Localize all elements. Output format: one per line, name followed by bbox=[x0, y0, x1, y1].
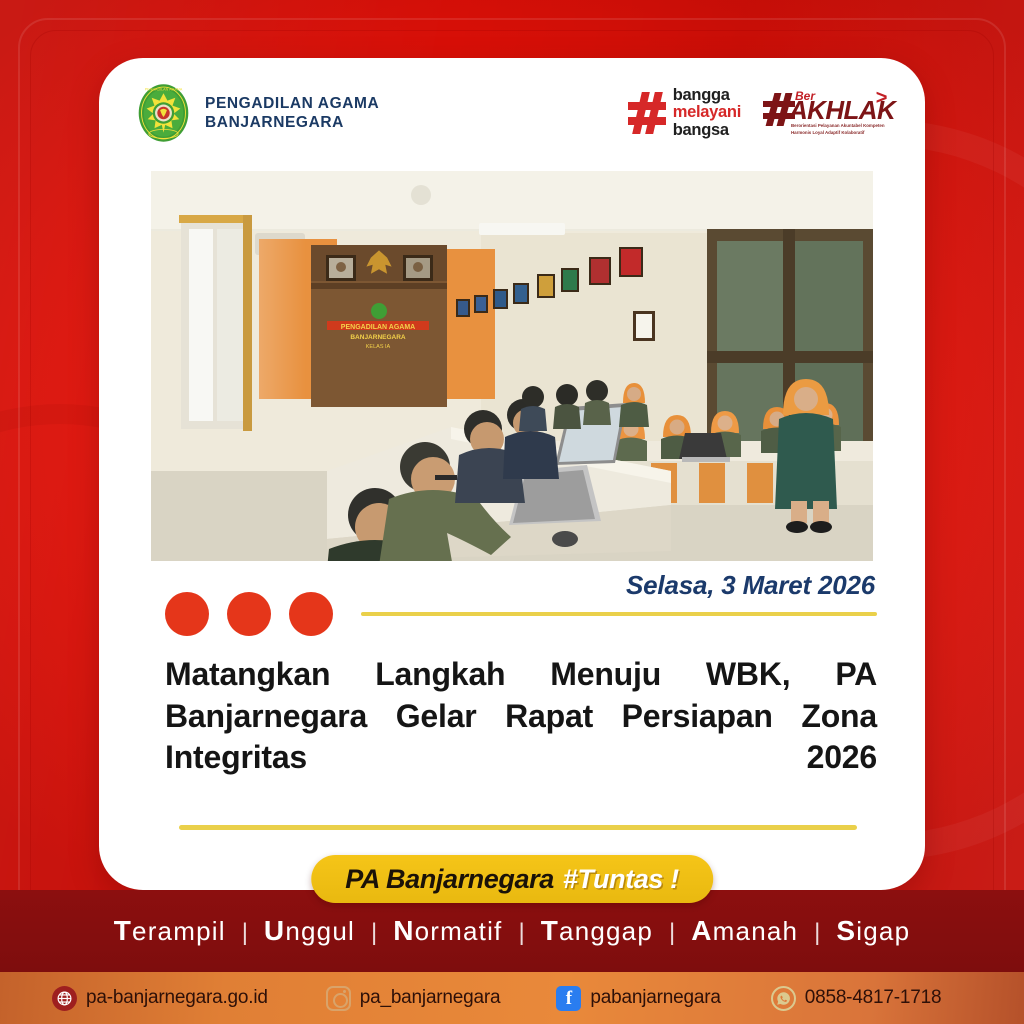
court-name-line2: BANJARNEGARA bbox=[205, 113, 379, 132]
svg-text:PENGADILAN AGAMA: PENGADILAN AGAMA bbox=[145, 87, 183, 91]
ber-akhlak-logo: Ber AKHLAK > Berorientasi Pelayanan Akun… bbox=[763, 87, 889, 139]
globe-icon bbox=[52, 986, 77, 1011]
article-date: Selasa, 3 Maret 2026 bbox=[626, 570, 875, 601]
decorative-dot bbox=[165, 592, 209, 636]
svg-text:KELAS IA: KELAS IA bbox=[366, 344, 391, 350]
whatsapp-label: 0858-4817-1718 bbox=[805, 987, 942, 1009]
svg-text:BANJARNEGARA: BANJARNEGARA bbox=[350, 334, 406, 341]
contact-footer: pa-banjarnegara.go.id pa_banjarnegara f … bbox=[0, 972, 1024, 1024]
contact-facebook[interactable]: f pabanjarnegara bbox=[556, 986, 720, 1011]
separator: | bbox=[669, 919, 675, 947]
facebook-icon: f bbox=[556, 986, 581, 1011]
facebook-label: pabanjarnegara bbox=[590, 987, 720, 1009]
bangga-melayani-bangsa-logo: bangga melayani bangsa bbox=[628, 87, 741, 138]
court-seal-icon: PENGADILAN AGAMA bbox=[135, 82, 192, 144]
value-word-normatif: Normatif bbox=[393, 915, 502, 947]
instagram-icon bbox=[326, 986, 351, 1011]
divider-row: Selasa, 3 Maret 2026 bbox=[165, 578, 877, 638]
separator: | bbox=[814, 919, 820, 947]
news-photo: PENGADILAN AGAMA BANJARNEGARA KELAS IA bbox=[151, 171, 873, 561]
whatsapp-icon bbox=[771, 986, 796, 1011]
badge-text-primary: PA Banjarnegara bbox=[345, 864, 554, 895]
contact-whatsapp[interactable]: 0858-4817-1718 bbox=[771, 986, 942, 1011]
akhlak-subtitle: Berorientasi Pelayanan Akuntabel Kompete… bbox=[791, 123, 891, 136]
tagline-badge[interactable]: PA Banjarnegara #Tuntas ! bbox=[311, 855, 713, 903]
court-name-line1: PENGADILAN AGAMA bbox=[205, 94, 379, 113]
value-word-amanah: Amanah bbox=[691, 915, 798, 947]
chevron-right-icon: > bbox=[875, 87, 887, 110]
partner-logos: bangga melayani bangsa Ber AKHLAK > Bero… bbox=[628, 87, 889, 139]
svg-text:PENGADILAN AGAMA: PENGADILAN AGAMA bbox=[341, 324, 415, 331]
value-word-terampil: Terampil bbox=[114, 915, 226, 947]
card-header: PENGADILAN AGAMA PENGADILAN AGAMA BANJAR… bbox=[99, 58, 925, 168]
bangga-line3: bangsa bbox=[673, 122, 741, 139]
content-card: PENGADILAN AGAMA PENGADILAN AGAMA BANJAR… bbox=[99, 58, 925, 890]
contact-instagram[interactable]: pa_banjarnegara bbox=[326, 986, 501, 1011]
value-word-unggul: Unggul bbox=[264, 915, 355, 947]
court-identity: PENGADILAN AGAMA PENGADILAN AGAMA BANJAR… bbox=[135, 82, 379, 144]
decorative-dot bbox=[289, 592, 333, 636]
values-tagline: Terampil | Unggul | Normatif | Tanggap |… bbox=[114, 915, 911, 947]
decorative-dot bbox=[227, 592, 271, 636]
yellow-rule-bottom bbox=[179, 825, 857, 830]
court-name: PENGADILAN AGAMA BANJARNEGARA bbox=[205, 94, 379, 133]
website-label: pa-banjarnegara.go.id bbox=[86, 987, 268, 1009]
separator: | bbox=[242, 919, 248, 947]
bangga-line1: bangga bbox=[673, 87, 741, 104]
separator: | bbox=[371, 919, 377, 947]
hash-icon bbox=[628, 92, 666, 134]
separator: | bbox=[519, 919, 525, 947]
contact-website[interactable]: pa-banjarnegara.go.id bbox=[52, 986, 268, 1011]
bangga-line2: melayani bbox=[673, 104, 741, 121]
value-word-sigap: Sigap bbox=[836, 915, 910, 947]
badge-text-hashtag: #Tuntas ! bbox=[563, 864, 679, 895]
bangga-logo-text: bangga melayani bangsa bbox=[673, 87, 741, 138]
yellow-rule-top bbox=[361, 612, 877, 616]
instagram-label: pa_banjarnegara bbox=[360, 987, 501, 1009]
value-word-tanggap: Tanggap bbox=[541, 915, 653, 947]
article-headline: Matangkan Langkah Menuju WBK, PA Banjarn… bbox=[165, 654, 877, 820]
